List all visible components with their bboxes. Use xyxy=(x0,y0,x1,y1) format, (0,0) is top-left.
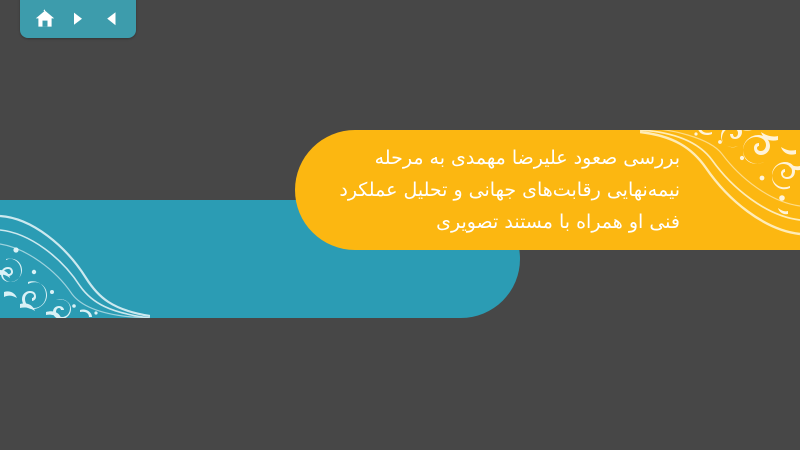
navigation-bar xyxy=(20,0,136,38)
title-line-2: نیمه‌نهایی رقابت‌های جهانی و تحلیل عملکر… xyxy=(295,174,680,206)
title-line-1: بررسی صعود علیرضا مهمدی به مرحله xyxy=(295,142,680,174)
triangle-right-icon xyxy=(68,9,88,29)
back-button[interactable] xyxy=(98,7,124,31)
slide-canvas: بررسی صعود علیرضا مهمدی به مرحله نیمه‌نه… xyxy=(0,0,800,450)
arabesque-ornament xyxy=(0,200,150,318)
slide-title: بررسی صعود علیرضا مهمدی به مرحله نیمه‌نه… xyxy=(295,132,680,248)
triangle-left-icon xyxy=(101,9,121,29)
home-icon xyxy=(34,8,56,30)
forward-button[interactable] xyxy=(65,7,91,31)
title-line-3: فنی او همراه با مستند تصویری xyxy=(295,206,680,238)
home-button[interactable] xyxy=(32,7,58,31)
